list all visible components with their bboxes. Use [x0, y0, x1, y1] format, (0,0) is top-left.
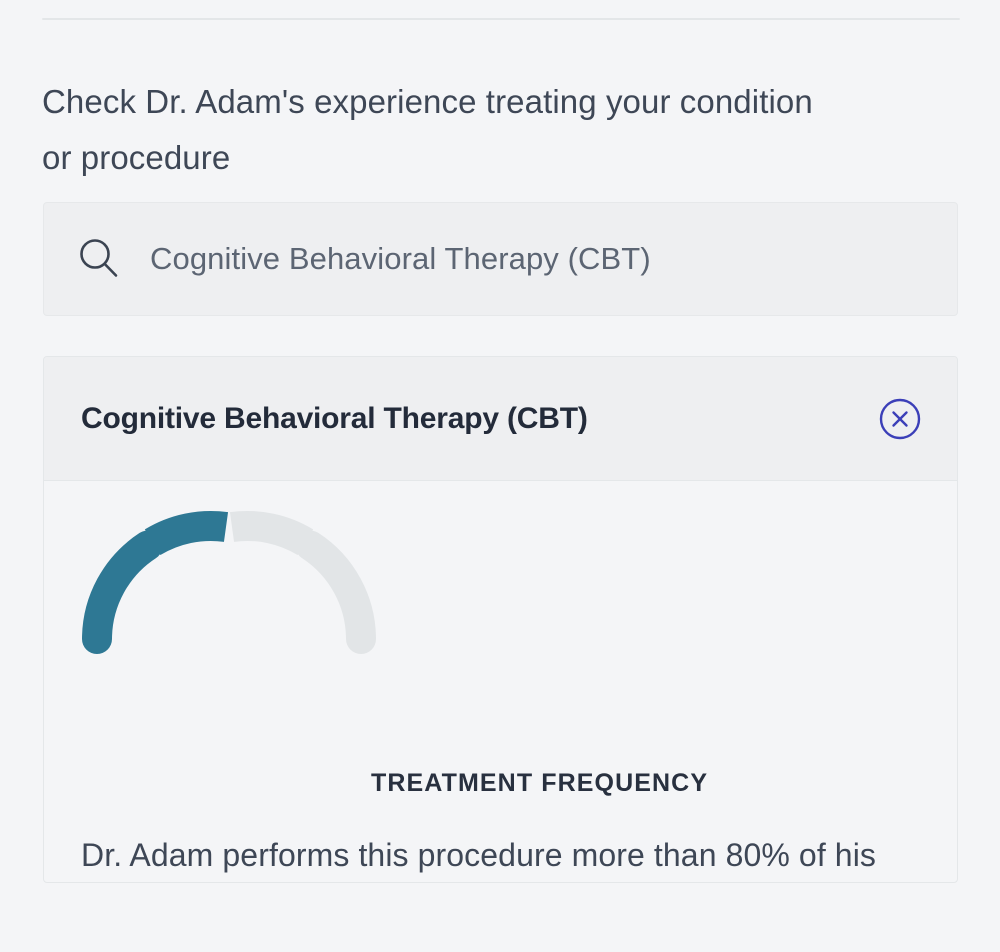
search-input-value: Cognitive Behavioral Therapy (CBT) [150, 241, 651, 277]
search-icon [76, 236, 122, 282]
result-card: Cognitive Behavioral Therapy (CBT) [43, 356, 958, 883]
gauge-segment-4 [310, 546, 361, 640]
gauge-segment-3 [232, 526, 305, 542]
gauge-description: Dr. Adam performs this procedure more th… [81, 827, 941, 883]
gauge-metric-label: TREATMENT FREQUENCY [371, 769, 708, 798]
gauge-segment-1 [97, 546, 148, 640]
section-heading: Check Dr. Adam's experience treating you… [42, 74, 842, 186]
search-input[interactable]: Cognitive Behavioral Therapy (CBT) [43, 202, 958, 316]
gauge-svg [79, 491, 379, 661]
top-divider [42, 18, 960, 20]
result-card-title: Cognitive Behavioral Therapy (CBT) [81, 402, 877, 436]
result-card-body: TREATMENT FREQUENCY Dr. Adam performs th… [44, 481, 957, 882]
close-circle-icon[interactable] [877, 396, 923, 442]
treatment-frequency-gauge [79, 491, 379, 661]
page-root: Check Dr. Adam's experience treating you… [0, 0, 1000, 952]
gauge-segment-2 [153, 526, 226, 542]
result-card-header: Cognitive Behavioral Therapy (CBT) [44, 357, 957, 481]
